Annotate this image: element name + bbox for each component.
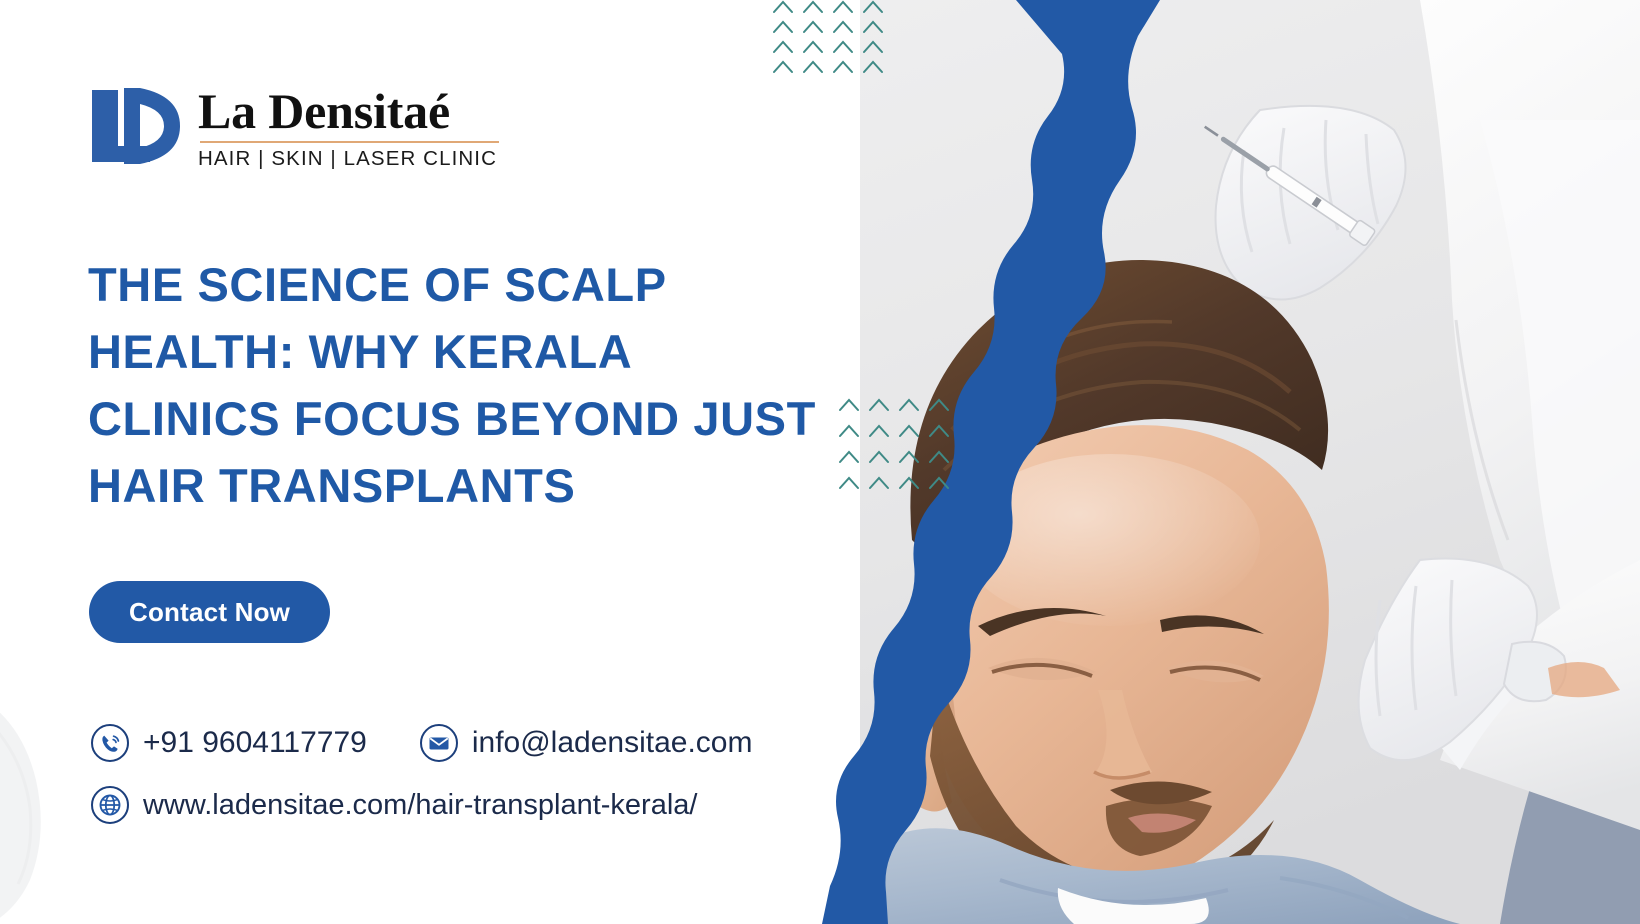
ld-monogram-shape xyxy=(88,84,184,166)
email-address: info@ladensitae.com xyxy=(472,726,753,760)
contact-email[interactable]: info@ladensitae.com xyxy=(419,723,753,763)
clinic-photo xyxy=(860,0,1640,924)
envelope-icon xyxy=(419,723,459,763)
contact-now-button[interactable]: Contact Now xyxy=(89,581,330,643)
brand-tagline: HAIR | SKIN | LASER CLINIC xyxy=(198,147,497,171)
phone-number: +91 9604117779 xyxy=(143,726,367,760)
texture-shape xyxy=(0,684,100,924)
logo-wordmark: La Densitaé HAIR | SKIN | LASER CLINIC xyxy=(198,84,497,171)
contact-details: +91 9604117779 info@ladensitae.com xyxy=(90,712,830,836)
ld-monogram-icon xyxy=(88,84,184,171)
website-url: www.ladensitae.com/hair-transplant-keral… xyxy=(143,788,697,822)
phone-icon-shape xyxy=(90,723,130,763)
envelope-icon-shape xyxy=(419,723,459,763)
globe-icon xyxy=(90,785,130,825)
phone-icon xyxy=(90,723,130,763)
contact-row-website: www.ladensitae.com/hair-transplant-keral… xyxy=(90,774,830,836)
logo-divider xyxy=(200,141,499,143)
contact-website[interactable]: www.ladensitae.com/hair-transplant-keral… xyxy=(90,785,697,825)
promotional-banner: La Densitaé HAIR | SKIN | LASER CLINIC T… xyxy=(0,0,1640,924)
scalp-treatment-photo xyxy=(860,0,1640,924)
contact-row-primary: +91 9604117779 info@ladensitae.com xyxy=(90,712,830,774)
corner-texture xyxy=(0,684,100,924)
contact-phone[interactable]: +91 9604117779 xyxy=(90,723,367,763)
page-title: THE SCIENCE OF SCALP HEALTH: WHY KERALA … xyxy=(88,251,828,519)
brand-logo[interactable]: La Densitaé HAIR | SKIN | LASER CLINIC xyxy=(88,84,497,171)
globe-icon-shape xyxy=(90,785,130,825)
brand-name: La Densitaé xyxy=(198,84,497,138)
